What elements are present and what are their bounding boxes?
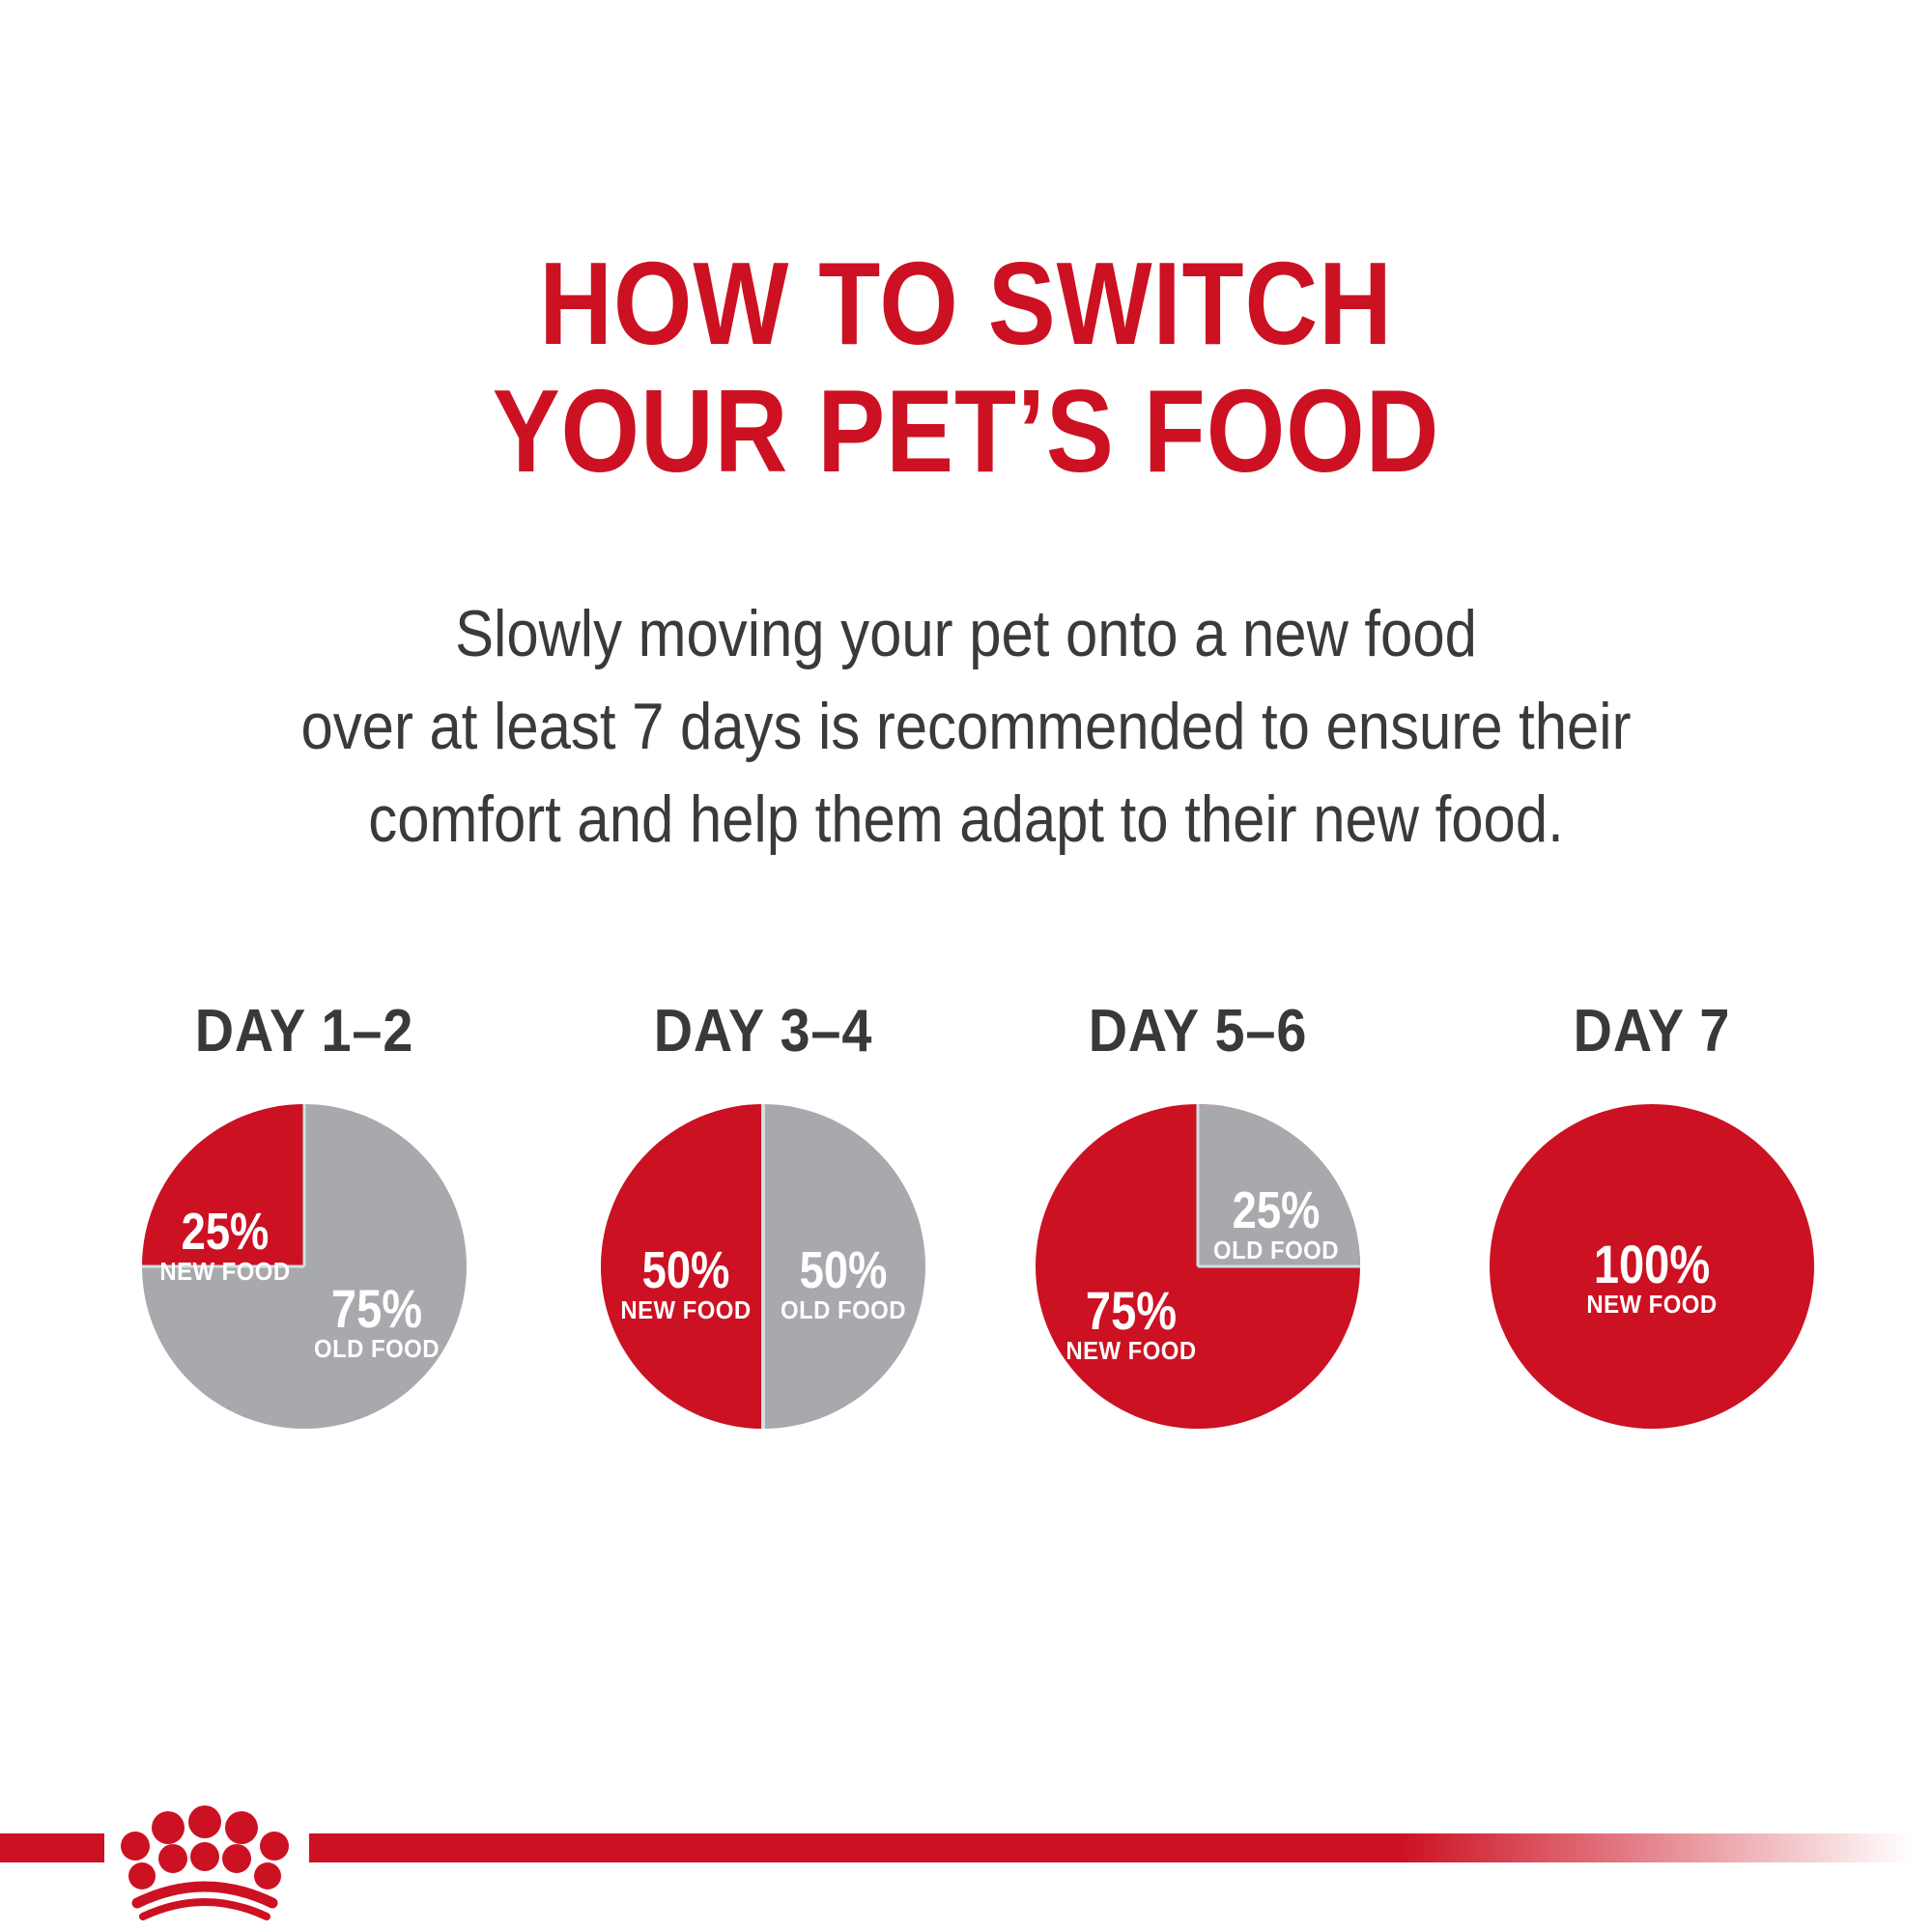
page-title-line-2: YOUR PET’S FOOD [135,367,1797,495]
crown-icon-svg [108,1803,301,1920]
day-label-3: DAY 5–6 [1007,1000,1389,1064]
pie-svg-2 [599,1102,927,1431]
intro-line-2: over at least 7 days is recommended to e… [150,680,1782,773]
pie-chart-day-7: 100% NEW FOOD [1488,1102,1816,1431]
day-label-4: DAY 7 [1461,1000,1843,1064]
pie-chart-row: DAY 1–2 25% NEW FOOD 75% OLD FOOD [0,1000,1932,1502]
page-title-line-1: HOW TO SWITCH [135,240,1797,367]
footer [0,1768,1932,1932]
intro-line-3: comfort and help them adapt to their new… [150,773,1782,866]
chart-column-day-1-2: DAY 1–2 25% NEW FOOD 75% OLD FOOD [92,1000,517,1431]
pie-chart-day-3-4: 50% NEW FOOD 50% OLD FOOD [599,1102,927,1431]
pie-slice-new-food [601,1104,763,1429]
day-label-1: DAY 1–2 [113,1000,496,1064]
footer-rule-left [0,1833,104,1862]
pie-slice-new-food [142,1104,304,1266]
infographic-page: HOW TO SWITCH YOUR PET’S FOOD Slowly mov… [0,0,1932,1932]
chart-column-day-7: DAY 7 100% NEW FOOD [1439,1000,1864,1431]
pie-chart-day-5-6: 25% OLD FOOD 75% NEW FOOD [1034,1102,1362,1431]
pie-svg-1 [140,1102,469,1431]
pie-svg-3 [1034,1102,1362,1431]
pie-slice-new-food [1490,1104,1814,1429]
chart-column-day-5-6: DAY 5–6 25% OLD FOOD 75% NEW FOOD [985,1000,1410,1431]
pie-svg-4 [1488,1102,1816,1431]
page-title: HOW TO SWITCH YOUR PET’S FOOD [0,240,1932,495]
chart-column-day-3-4: DAY 3–4 50% NEW FOOD 50% OLD FOOD [551,1000,976,1431]
day-label-2: DAY 3–4 [572,1000,954,1064]
pie-chart-day-1-2: 25% NEW FOOD 75% OLD FOOD [140,1102,469,1431]
intro-paragraph: Slowly moving your pet onto a new food o… [39,587,1893,866]
intro-line-1: Slowly moving your pet onto a new food [150,587,1782,680]
royal-canin-crown-icon [108,1803,301,1920]
footer-rule-right [309,1833,1913,1862]
pie-slice-old-food [1198,1104,1360,1266]
